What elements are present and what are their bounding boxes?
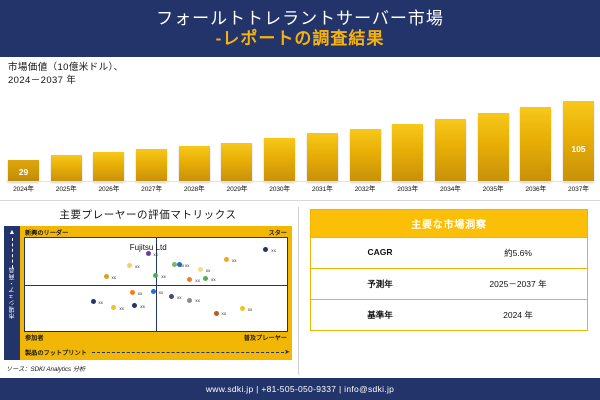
bar-2024年: 29 <box>8 160 39 182</box>
matrix-y-axis-label: 市場シェア・商品 <box>8 267 17 319</box>
bar-2037年: 105 <box>563 101 594 182</box>
matrix-body: 新興のリーダー スター 参加者 普及プレーヤー Fujitsu Ltd xxxx… <box>20 226 292 344</box>
x-tick-label: 2031年 <box>307 183 338 193</box>
x-axis-dashed-line <box>92 352 284 353</box>
matrix-point-label: xx <box>111 275 116 280</box>
bar-2025年 <box>51 155 82 182</box>
matrix-y-axis: ▲ 市場シェア・商品 <box>4 226 20 344</box>
bar-2031年 <box>307 133 338 182</box>
lower-section: 主要プレーヤーの評価マトリックス ▲ 市場シェア・商品 新興のリーダー スター … <box>0 200 600 383</box>
bar-column <box>392 97 423 182</box>
matrix-data-point <box>198 267 203 272</box>
report-header: フォールトトレラントサーバー市場 -レポートの調査結果 <box>0 0 600 57</box>
report-title-line2: -レポートの調査結果 <box>216 29 385 48</box>
matrix-x-axis-label: 製品のフットプリント <box>25 348 87 357</box>
panel-divider <box>298 207 299 375</box>
quadrant-label-penetration-players: 普及プレーヤー <box>244 333 287 342</box>
matrix-data-point <box>169 294 174 299</box>
matrix-point-label: xx <box>138 291 143 296</box>
matrix-data-point <box>172 262 177 267</box>
x-tick-label: 2026年 <box>93 183 124 193</box>
matrix-point-label: xx <box>222 311 227 316</box>
insight-key: 予測年 <box>311 269 449 299</box>
matrix-point-label: xx <box>206 268 211 273</box>
matrix-point-label: xx <box>185 263 190 268</box>
quadrant-label-emerging-leaders: 新興のリーダー <box>25 228 68 237</box>
axis-corner-spacer <box>4 344 20 360</box>
bar-2035年 <box>478 113 509 182</box>
x-tick-label: 2030年 <box>264 183 295 193</box>
matrix-data-point <box>91 299 96 304</box>
bar-2026年 <box>93 152 124 182</box>
bar-2029年 <box>221 143 252 182</box>
source-note: ソース：SDKI Analytics 分析 <box>4 364 292 373</box>
matrix-data-point <box>132 303 137 308</box>
matrix-x-axis-bar: 製品のフットプリント ➤ <box>20 344 292 360</box>
insight-row: 予測年2025－2037 年 <box>311 268 587 299</box>
key-insights-panel: 主要な市場洞察 CAGR約5.6%予測年2025－2037 年基準年2024 年 <box>298 201 600 383</box>
x-tick-label: 2033年 <box>392 183 423 193</box>
matrix-data-point <box>263 247 268 252</box>
insight-row: CAGR約5.6% <box>311 237 587 268</box>
x-tick-label: 2028年 <box>179 183 210 193</box>
matrix-data-point <box>203 276 208 281</box>
matrix-data-point <box>146 251 151 256</box>
bar-column <box>520 97 551 182</box>
bar-column <box>264 97 295 182</box>
matrix-point-label: xx <box>211 277 216 282</box>
quadrant-label-participants: 参加者 <box>25 333 44 342</box>
x-tick-label: 2032年 <box>350 183 381 193</box>
footer-contact: www.sdki.jp | +81-505-050-9337 | info@sd… <box>206 384 394 394</box>
bar-column <box>136 97 167 182</box>
matrix-data-point <box>153 273 158 278</box>
bar-2032年 <box>350 129 381 182</box>
report-footer: www.sdki.jp | +81-505-050-9337 | info@sd… <box>0 378 600 400</box>
bar-2030年 <box>264 138 295 182</box>
matrix-point-label: xx <box>140 304 145 309</box>
insight-row: 基準年2024 年 <box>311 299 587 330</box>
matrix-point-label: xx <box>135 264 140 269</box>
matrix-data-point <box>151 289 156 294</box>
matrix-data-point <box>127 263 132 268</box>
matrix-point-label: xx <box>119 306 124 311</box>
matrix-point-label: xx <box>161 274 166 279</box>
matrix-point-label: xx <box>180 263 185 268</box>
x-tick-label: 2025年 <box>51 183 82 193</box>
insight-key: 基準年 <box>311 300 449 330</box>
matrix-title: 主要プレーヤーの評価マトリックス <box>4 207 292 222</box>
bar-value-label: 105 <box>563 144 594 154</box>
matrix-data-point <box>111 305 116 310</box>
bar-2034年 <box>435 119 466 182</box>
bar-column <box>179 97 210 182</box>
insight-key: CAGR <box>311 238 449 268</box>
chart-title-line2: 2024－2037 年 <box>8 75 594 88</box>
insight-value: 約5.6% <box>449 238 587 268</box>
bar-column <box>93 97 124 182</box>
matrix-data-point <box>240 306 245 311</box>
bar-column <box>307 97 338 182</box>
right-arrow-icon: ➤ <box>284 348 290 356</box>
x-tick-label: 2035年 <box>478 183 509 193</box>
matrix-point-label: xx <box>195 298 200 303</box>
key-insights-rows: CAGR約5.6%予測年2025－2037 年基準年2024 年 <box>311 237 587 330</box>
bar-column: 105 <box>563 97 594 182</box>
bar-value-label: 29 <box>8 167 39 177</box>
matrix-data-point <box>130 290 135 295</box>
chart-x-axis: 2024年2025年2026年2027年2028年2029年2030年2031年… <box>8 183 594 193</box>
up-arrow-icon: ▲ <box>4 229 20 236</box>
x-tick-label: 2029年 <box>221 183 252 193</box>
chart-title: 市場価値（10億米ドル）、 2024－2037 年 <box>8 62 594 87</box>
matrix-point-label: xx <box>195 278 200 283</box>
key-insights-title: 主要な市場洞察 <box>311 210 587 237</box>
bar-column <box>350 97 381 182</box>
bar-column <box>51 97 82 182</box>
bar-column <box>478 97 509 182</box>
matrix-point-label: xx <box>153 252 158 257</box>
insight-value: 2024 年 <box>449 300 587 330</box>
positioning-matrix-panel: 主要プレーヤーの評価マトリックス ▲ 市場シェア・商品 新興のリーダー スター … <box>0 201 298 383</box>
x-tick-label: 2037年 <box>563 183 594 193</box>
x-tick-label: 2036年 <box>520 183 551 193</box>
matrix-point-label: xx <box>98 300 103 305</box>
bar-2033年 <box>392 124 423 182</box>
matrix-point-label: xx <box>232 258 237 263</box>
key-insights-table: 主要な市場洞察 CAGR約5.6%予測年2025－2037 年基準年2024 年 <box>310 209 588 331</box>
matrix-point-label: xx <box>248 307 253 312</box>
chart-title-line1: 市場価値（10億米ドル）、 <box>8 62 594 75</box>
matrix-data-point <box>214 311 219 316</box>
market-value-chart: 市場価値（10億米ドル）、 2024－2037 年 29105 2024年202… <box>0 57 600 200</box>
x-tick-label: 2034年 <box>435 183 466 193</box>
matrix-point-label: xx <box>271 248 276 253</box>
matrix-chart: ▲ 市場シェア・商品 新興のリーダー スター 参加者 普及プレーヤー Fujit… <box>4 226 292 344</box>
insight-value: 2025－2037 年 <box>449 269 587 299</box>
matrix-data-point <box>224 257 229 262</box>
matrix-data-point <box>187 298 192 303</box>
report-infographic: フォールトトレラントサーバー市場 -レポートの調査結果 市場価値（10億米ドル）… <box>0 0 600 400</box>
matrix-grid: Fujitsu Ltd xxxxxxxxxxxxxxxxxxxxxxxxxxxx… <box>24 237 288 332</box>
bar-column <box>221 97 252 182</box>
quadrant-label-stars: スター <box>268 228 287 237</box>
matrix-point-label: xx <box>159 290 164 295</box>
x-tick-label: 2027年 <box>136 183 167 193</box>
matrix-data-point <box>187 277 192 282</box>
bar-column <box>435 97 466 182</box>
report-title-line1: フォールトトレラントサーバー市場 <box>156 9 444 28</box>
matrix-x-axis: 製品のフットプリント ➤ <box>4 344 292 360</box>
bar-column: 29 <box>8 97 39 182</box>
y-axis-dashed-line <box>12 238 13 268</box>
chart-plot-area: 29105 <box>8 97 594 182</box>
matrix-point-label: xx <box>177 295 182 300</box>
matrix-data-point <box>104 274 109 279</box>
bar-2027年 <box>136 149 167 182</box>
x-tick-label: 2024年 <box>8 183 39 193</box>
bar-2028年 <box>179 146 210 182</box>
bar-2036年 <box>520 107 551 182</box>
chart-baseline <box>6 181 594 182</box>
